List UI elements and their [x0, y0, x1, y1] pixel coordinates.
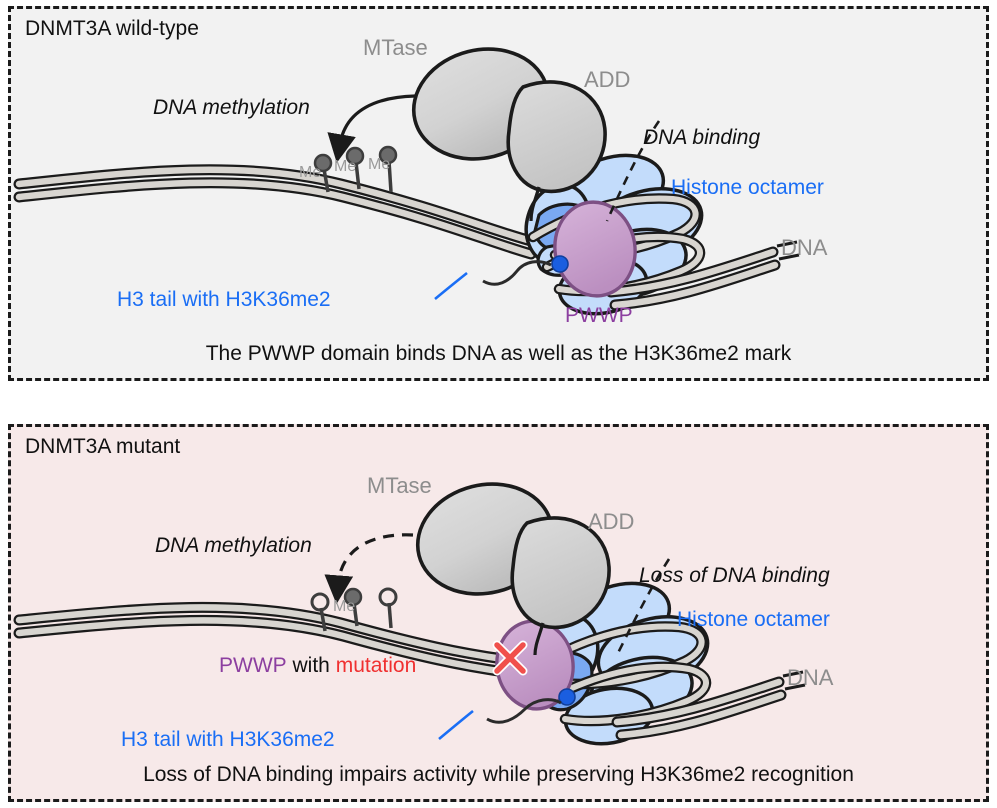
- h3-tail-leader: [439, 711, 473, 739]
- label-h3-tail: H3 tail with H3K36me2: [117, 289, 331, 310]
- label-dna-methylation: DNA methylation: [155, 535, 312, 556]
- label-me-1: Me: [333, 599, 355, 615]
- panel-wild-type: DNMT3A wild-type: [8, 6, 989, 381]
- label-add: ADD: [584, 69, 630, 91]
- label-me-3: Me: [368, 157, 390, 173]
- label-pwwp-with-mutation: PWWP with mutation: [219, 655, 416, 676]
- dna-methylation-arrow-dashed: [338, 535, 413, 585]
- label-dna-binding: DNA binding: [643, 127, 760, 148]
- label-me-2: Me: [334, 159, 356, 175]
- label-dna-methylation: DNA methylation: [153, 97, 310, 118]
- add-blob: [508, 82, 605, 191]
- label-histone-octamer: Histone octamer: [671, 177, 824, 198]
- h3k36me2-node: [559, 689, 575, 705]
- label-dna: DNA: [781, 237, 827, 259]
- figure-root: DNMT3A wild-type: [0, 0, 997, 808]
- label-mutation: mutation: [336, 654, 417, 677]
- dna-methylation-arrow: [340, 96, 415, 144]
- h3k36me2-node: [552, 256, 568, 272]
- panel-caption-mutant: Loss of DNA binding impairs activity whi…: [11, 763, 986, 787]
- label-pwwp: PWWP: [565, 305, 633, 326]
- label-mtase: MTase: [363, 37, 428, 59]
- label-with: with: [293, 654, 330, 677]
- label-add: ADD: [588, 511, 634, 533]
- dna-strand-left: [19, 170, 531, 254]
- label-pwwp: PWWP: [219, 654, 287, 677]
- label-mtase: MTase: [367, 475, 432, 497]
- label-loss-of-dna-binding: Loss of DNA binding: [639, 565, 830, 586]
- add-blob: [512, 518, 609, 627]
- label-dna: DNA: [787, 667, 833, 689]
- label-me-1: Me: [299, 165, 321, 181]
- h3-tail-leader: [435, 273, 467, 299]
- wild-type-schematic: [11, 9, 986, 378]
- label-h3-tail: H3 tail with H3K36me2: [121, 729, 335, 750]
- panel-caption-wild-type: The PWWP domain binds DNA as well as the…: [11, 342, 986, 366]
- panel-mutant: DNMT3A mutant: [8, 424, 989, 802]
- label-histone-octamer: Histone octamer: [677, 609, 830, 630]
